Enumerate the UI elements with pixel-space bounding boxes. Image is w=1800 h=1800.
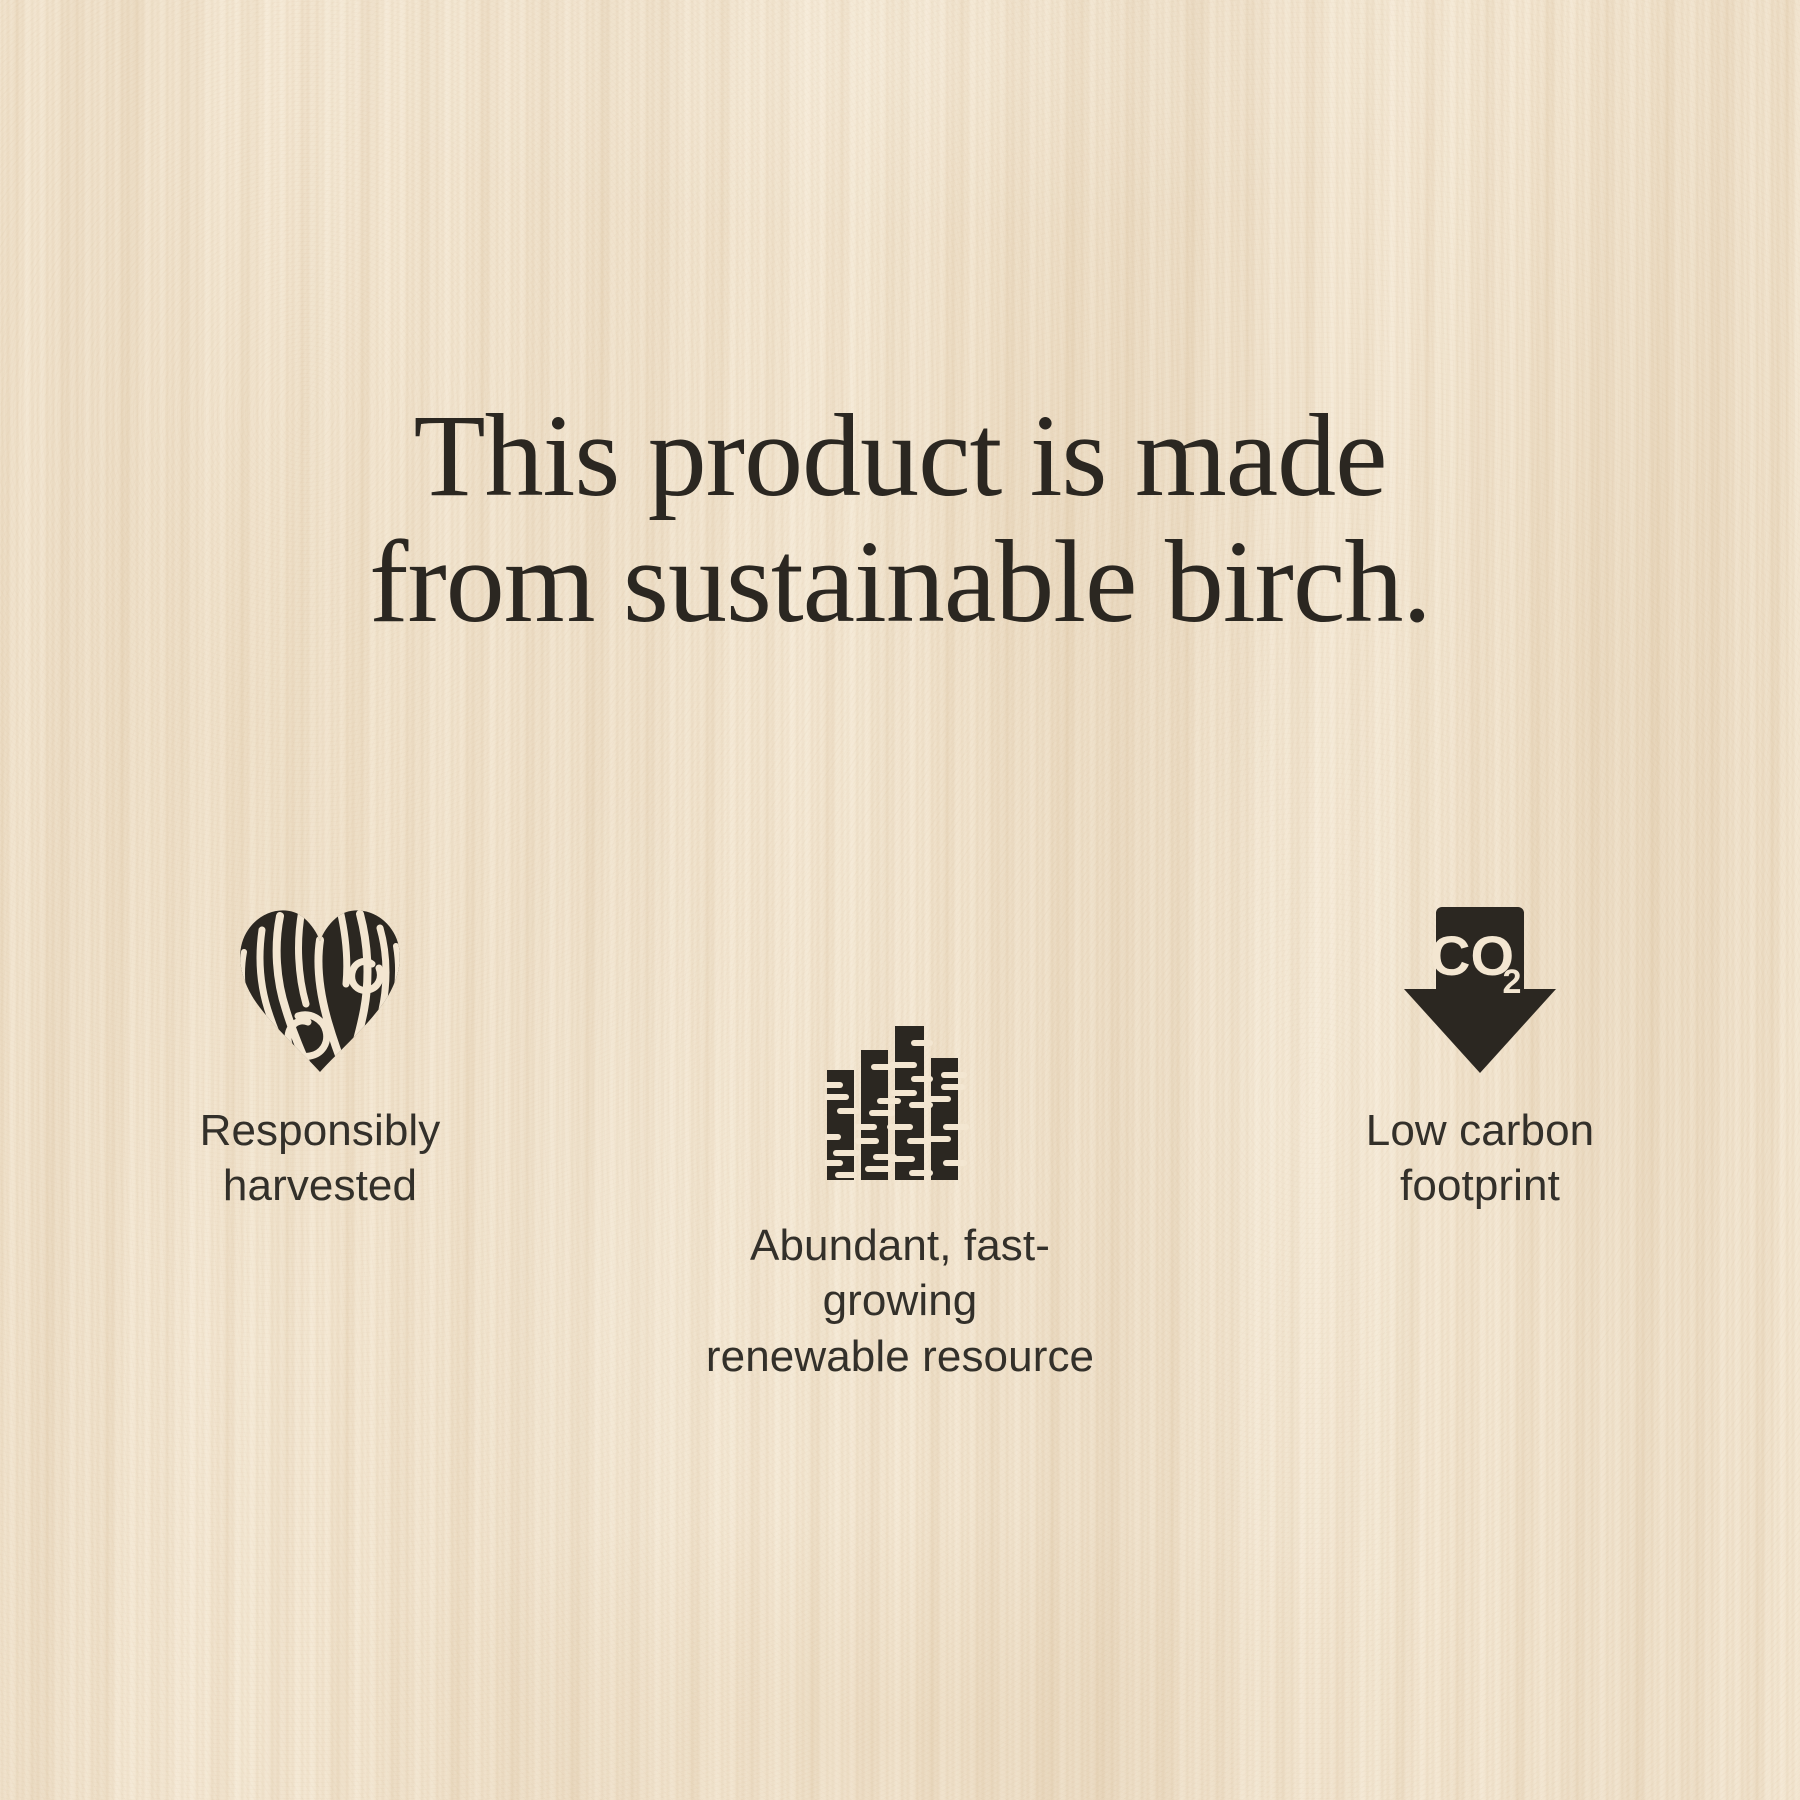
birch-trunks-icon <box>825 1020 975 1180</box>
feature-caption: Abundant, fast-growing renewable resourc… <box>690 1218 1110 1384</box>
wood-grain-heart-icon <box>236 900 404 1075</box>
feature-caption: Responsibly harvested <box>110 1103 530 1214</box>
card-content: This product is made from sustainable bi… <box>0 0 1800 1800</box>
feature-icon-container <box>690 1020 1110 1180</box>
feature-icon-container <box>110 900 530 1075</box>
feature-responsibly-harvested: Responsibly harvested <box>110 900 530 1214</box>
page-title: This product is made from sustainable bi… <box>0 393 1800 646</box>
feature-list: Responsibly harvested <box>0 900 1800 1320</box>
co2-subscript: 2 <box>1503 963 1522 1001</box>
feature-icon-container: CO 2 <box>1270 900 1690 1075</box>
sustainable-birch-card: This product is made from sustainable bi… <box>0 0 1800 1800</box>
co2-down-arrow-icon: CO 2 <box>1400 907 1560 1075</box>
feature-caption: Low carbon footprint <box>1270 1103 1690 1214</box>
feature-renewable-resource: Abundant, fast-growing renewable resourc… <box>690 1020 1110 1384</box>
feature-low-carbon-footprint: CO 2 Low carbon footprint <box>1270 900 1690 1214</box>
co2-label: CO <box>1430 924 1514 987</box>
